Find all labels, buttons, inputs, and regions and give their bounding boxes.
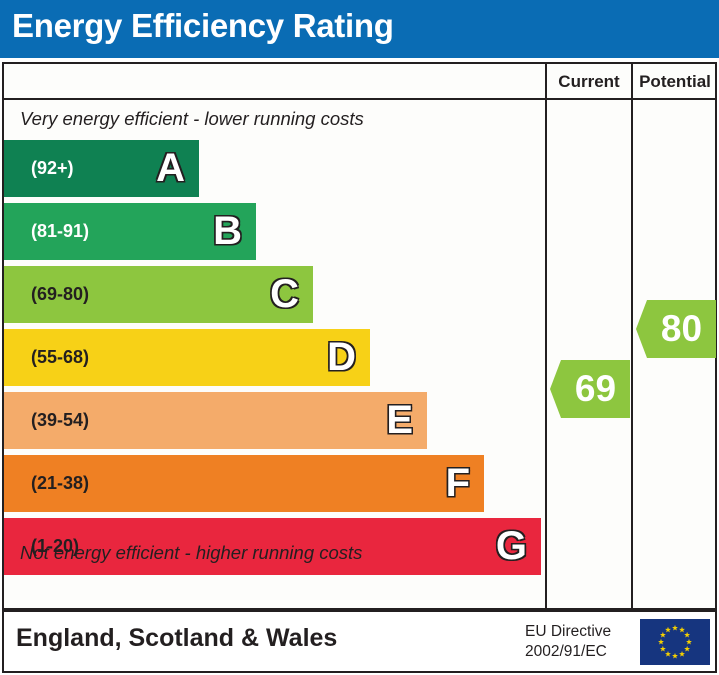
- rating-bar-range-c: (69-80): [31, 266, 89, 323]
- rating-table: Current Potential Very energy efficient …: [2, 62, 717, 610]
- rating-value-current: 69: [561, 360, 630, 418]
- rating-marker-potential: 80: [636, 300, 716, 358]
- energy-efficiency-rating-chart: Energy Efficiency Rating Current Potenti…: [0, 0, 719, 675]
- rating-bar-range-a: (92+): [31, 140, 74, 197]
- table-header-row: Current Potential: [4, 64, 715, 100]
- footer-region-label: England, Scotland & Wales: [16, 624, 337, 653]
- rating-bar-f: (21-38)F: [4, 455, 484, 512]
- caption-inefficient: Not energy efficient - higher running co…: [4, 534, 545, 572]
- rating-bar-letter-a: A: [156, 140, 185, 197]
- rating-bar-c: (69-80)C: [4, 266, 313, 323]
- rating-bar-a: (92+)A: [4, 140, 199, 197]
- caption-efficient: Very energy efficient - lower running co…: [4, 100, 545, 138]
- rating-bar-letter-d: D: [327, 329, 356, 386]
- column-header-current: Current: [545, 64, 631, 100]
- column-separator-potential: [631, 100, 633, 610]
- rating-bar-letter-e: E: [386, 392, 413, 449]
- column-separator-current: [545, 100, 547, 610]
- directive-line-1: EU Directive: [525, 622, 629, 642]
- chart-title-bar: Energy Efficiency Rating: [0, 0, 719, 58]
- rating-bar-range-e: (39-54): [31, 392, 89, 449]
- rating-value-potential: 80: [647, 300, 716, 358]
- rating-bar-range-b: (81-91): [31, 203, 89, 260]
- rating-bar-letter-b: B: [213, 203, 242, 260]
- rating-bar-b: (81-91)B: [4, 203, 256, 260]
- footer-directive-label: EU Directive 2002/91/EC: [525, 622, 629, 662]
- rating-bar-range-d: (55-68): [31, 329, 89, 386]
- rating-bar-letter-c: C: [270, 266, 299, 323]
- rating-bar-d: (55-68)D: [4, 329, 370, 386]
- rating-bar-range-f: (21-38): [31, 455, 89, 512]
- page-title: Energy Efficiency Rating: [12, 7, 394, 45]
- chart-footer: England, Scotland & Wales EU Directive 2…: [2, 610, 717, 673]
- rating-bar-letter-f: F: [446, 455, 470, 512]
- directive-line-2: 2002/91/EC: [525, 642, 629, 662]
- eu-flag-icon: [640, 619, 710, 665]
- rating-bar-e: (39-54)E: [4, 392, 427, 449]
- column-header-potential: Potential: [631, 64, 717, 100]
- rating-bars: (92+)A(81-91)B(69-80)C(55-68)D(39-54)E(2…: [4, 140, 545, 532]
- rating-marker-current: 69: [550, 360, 630, 418]
